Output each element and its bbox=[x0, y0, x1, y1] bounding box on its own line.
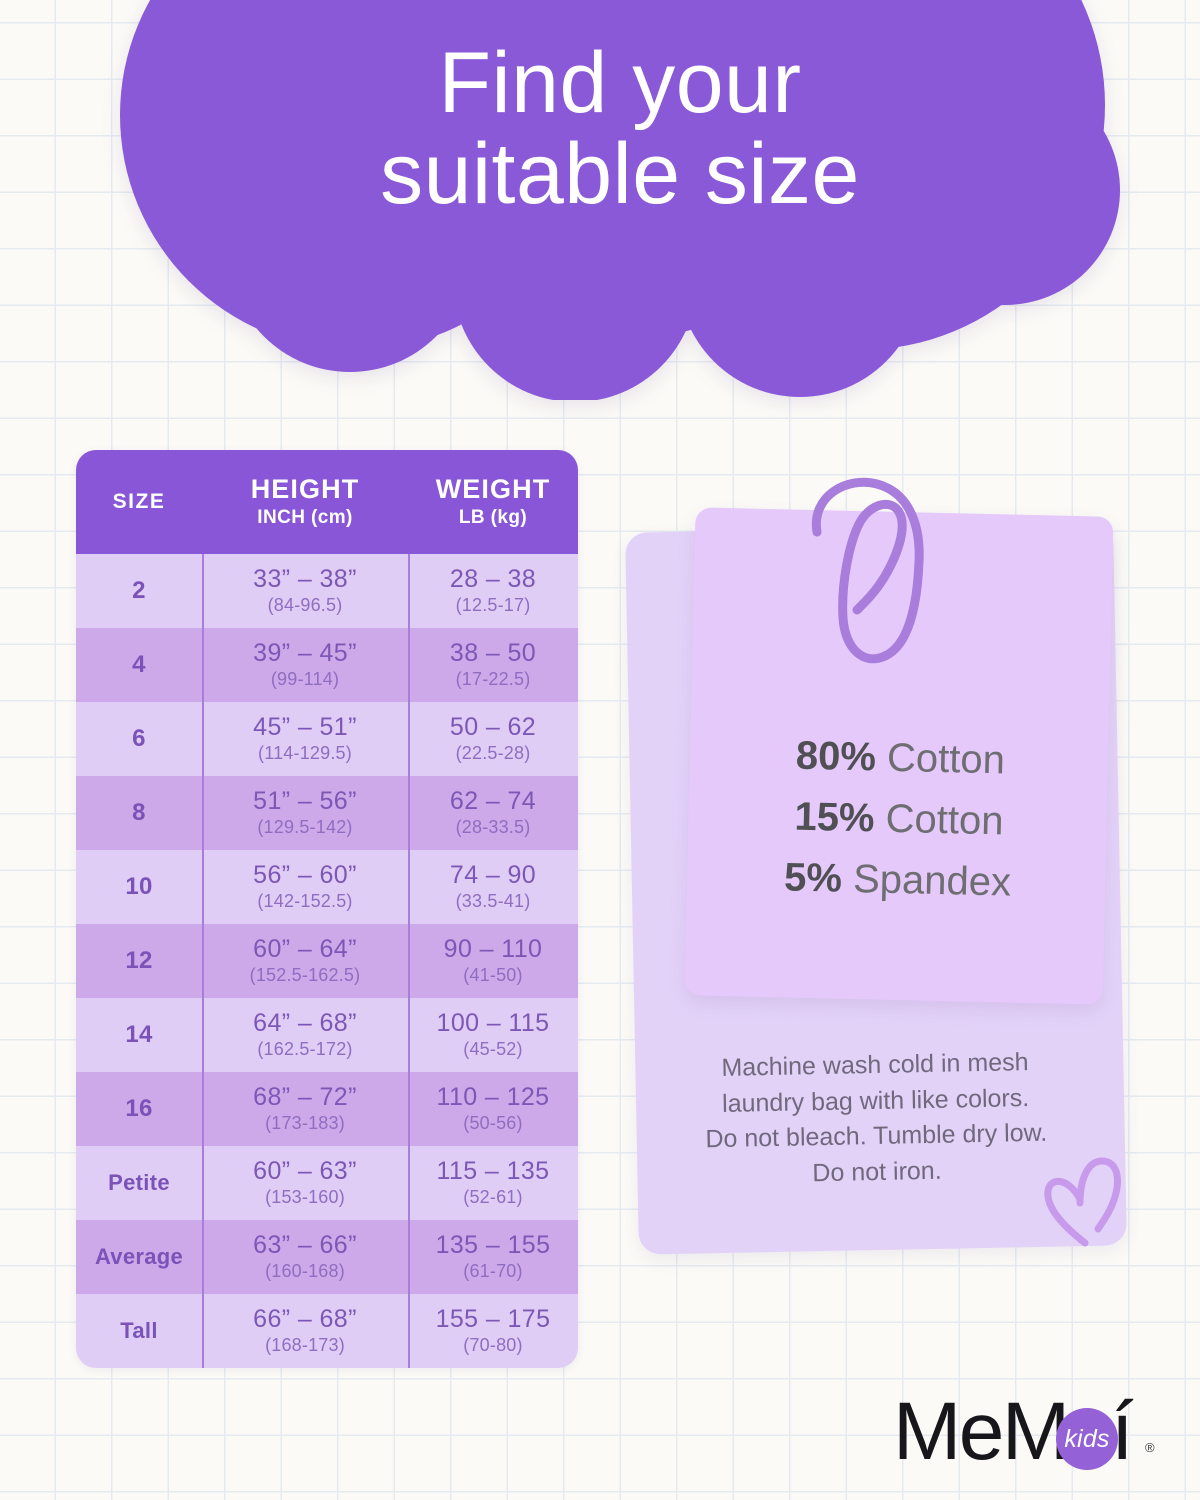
cell-weight: 110 – 125(50-56) bbox=[408, 1072, 578, 1146]
cell-height: 39” – 45”(99-114) bbox=[202, 628, 408, 702]
cell-height: 56” – 60”(142-152.5) bbox=[202, 850, 408, 924]
heart-icon bbox=[1040, 1155, 1130, 1251]
cell-height: 60” – 63”(153-160) bbox=[202, 1146, 408, 1220]
cell-weight: 38 – 50(17-22.5) bbox=[408, 628, 578, 702]
cell-size: 4 bbox=[76, 628, 202, 702]
registered-mark: ® bbox=[1145, 1440, 1155, 1455]
table-row: Average 63” – 66”(160-168) 135 – 155(61-… bbox=[76, 1220, 578, 1294]
size-chart-table: SIZE HEIGHT INCH (cm) WEIGHT LB (kg) 2 3… bbox=[76, 450, 578, 1368]
cell-weight: 155 – 175(70-80) bbox=[408, 1294, 578, 1368]
cell-size: 6 bbox=[76, 702, 202, 776]
cell-height: 33” – 38”(84-96.5) bbox=[202, 554, 408, 628]
table-row: 14 64” – 68”(162.5-172) 100 – 115(45-52) bbox=[76, 998, 578, 1072]
page-title: Find your suitable size bbox=[140, 38, 1100, 220]
composition-line: 15% Cotton bbox=[689, 784, 1108, 854]
table-row: 12 60” – 64”(152.5-162.5) 90 – 110(41-50… bbox=[76, 924, 578, 998]
cell-size: 8 bbox=[76, 776, 202, 850]
cell-height: 64” – 68”(162.5-172) bbox=[202, 998, 408, 1072]
table-row: Petite 60” – 63”(153-160) 115 – 135(52-6… bbox=[76, 1146, 578, 1220]
table-row: 16 68” – 72”(173-183) 110 – 125(50-56) bbox=[76, 1072, 578, 1146]
cell-weight: 62 – 74(28-33.5) bbox=[408, 776, 578, 850]
cell-height: 60” – 64”(152.5-162.5) bbox=[202, 924, 408, 998]
cell-size: Tall bbox=[76, 1294, 202, 1368]
table-row: 6 45” – 51”(114-129.5) 50 – 62(22.5-28) bbox=[76, 702, 578, 776]
cell-height: 68” – 72”(173-183) bbox=[202, 1072, 408, 1146]
care-instructions-text: Machine wash cold in mesh laundry bag wi… bbox=[649, 1044, 1104, 1195]
cell-height: 63” – 66”(160-168) bbox=[202, 1220, 408, 1294]
cell-weight: 90 – 110(41-50) bbox=[408, 924, 578, 998]
cell-height: 45” – 51”(114-129.5) bbox=[202, 702, 408, 776]
cell-weight: 135 – 155(61-70) bbox=[408, 1220, 578, 1294]
brand-logo: MeMoí kids ® bbox=[893, 1390, 1165, 1474]
fabric-composition-list: 80% Cotton 15% Cotton 5% Spandex bbox=[688, 723, 1110, 915]
table-row: 2 33” – 38”(84-96.5) 28 – 38(12.5-17) bbox=[76, 554, 578, 628]
cell-weight: 115 – 135(52-61) bbox=[408, 1146, 578, 1220]
cell-size: 2 bbox=[76, 554, 202, 628]
cell-size: 16 bbox=[76, 1072, 202, 1146]
cell-size: Average bbox=[76, 1220, 202, 1294]
table-row: 8 51” – 56”(129.5-142) 62 – 74(28-33.5) bbox=[76, 776, 578, 850]
composition-line: 5% Spandex bbox=[688, 845, 1107, 915]
cell-size: 10 bbox=[76, 850, 202, 924]
cell-weight: 50 – 62(22.5-28) bbox=[408, 702, 578, 776]
column-header-size: SIZE bbox=[76, 450, 202, 554]
cell-size: Petite bbox=[76, 1146, 202, 1220]
column-header-weight: WEIGHT LB (kg) bbox=[408, 450, 578, 554]
cell-weight: 100 – 115(45-52) bbox=[408, 998, 578, 1072]
cell-size: 14 bbox=[76, 998, 202, 1072]
column-header-height: HEIGHT INCH (cm) bbox=[202, 450, 408, 554]
cell-weight: 28 – 38(12.5-17) bbox=[408, 554, 578, 628]
kids-badge: kids bbox=[1056, 1408, 1118, 1470]
table-row: 10 56” – 60”(142-152.5) 74 – 90(33.5-41) bbox=[76, 850, 578, 924]
composition-line: 80% Cotton bbox=[691, 723, 1110, 793]
cell-size: 12 bbox=[76, 924, 202, 998]
table-row: 4 39” – 45”(99-114) 38 – 50(17-22.5) bbox=[76, 628, 578, 702]
cell-height: 66” – 68”(168-173) bbox=[202, 1294, 408, 1368]
table-row: Tall 66” – 68”(168-173) 155 – 175(70-80) bbox=[76, 1294, 578, 1368]
table-header-row: SIZE HEIGHT INCH (cm) WEIGHT LB (kg) bbox=[76, 450, 578, 554]
paperclip-icon bbox=[795, 470, 965, 680]
cell-weight: 74 – 90(33.5-41) bbox=[408, 850, 578, 924]
cell-height: 51” – 56”(129.5-142) bbox=[202, 776, 408, 850]
